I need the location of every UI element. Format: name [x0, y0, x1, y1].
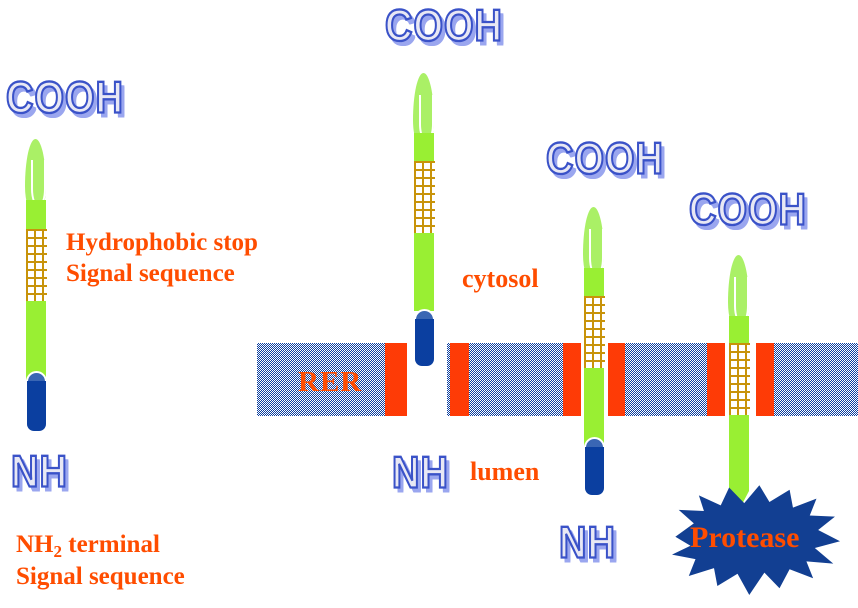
membrane-edge-bar	[450, 343, 469, 416]
nh-label-2: NH	[392, 451, 449, 496]
membrane-edge-bar	[608, 343, 625, 416]
cooh-label-4: COOH	[689, 188, 807, 233]
hydrophobic-stop-segment	[26, 229, 47, 301]
hydrophobic-stop-segment	[584, 296, 605, 368]
rer-label: RER	[298, 366, 362, 399]
protein-green-shaft	[584, 268, 604, 296]
nh2-terminal-line1: NH2 terminal	[16, 530, 185, 562]
cytosol-label: cytosol	[462, 263, 539, 295]
nh2-terminal-line2: Signal sequence	[16, 562, 185, 593]
nh-label-1: NH	[11, 450, 68, 495]
membrane-edge-bar	[707, 343, 725, 416]
cooh-label-2: COOH	[385, 4, 503, 49]
nh2-terminal-caption: NH2 terminal Signal sequence	[16, 530, 185, 593]
cooh-label-1: COOH	[6, 76, 124, 121]
protein-green-shaft	[414, 233, 434, 311]
nh2-subscript: 2	[54, 542, 63, 561]
protein-green-shaft	[26, 200, 46, 229]
signal-sequence-tail	[415, 319, 434, 366]
hydrophobic-stop-line1: Hydrophobic stop	[66, 228, 258, 259]
lumen-label: lumen	[470, 456, 539, 488]
protein-green-shaft	[414, 133, 434, 161]
hydrophobic-stop-segment	[414, 161, 435, 233]
diagram-canvas: RER COOH NH Hydrophobic stop Signal sequ…	[0, 0, 858, 608]
protein-green-shaft	[584, 368, 604, 446]
protease-label: Protease	[690, 521, 799, 555]
nh2-terminal-suffix: terminal	[62, 531, 160, 558]
nh2-terminal-text: NH	[16, 531, 54, 558]
membrane-edge-bar	[756, 343, 774, 416]
hydrophobic-stop-line2: Signal sequence	[66, 259, 258, 290]
protein-green-shaft	[26, 301, 46, 380]
nh-label-3: NH	[559, 521, 616, 566]
cooh-label-3: COOH	[546, 137, 664, 182]
membrane-edge-bar	[563, 343, 581, 416]
hydrophobic-stop-caption: Hydrophobic stop Signal sequence	[66, 228, 258, 289]
signal-sequence-tail	[585, 447, 604, 495]
hydrophobic-stop-segment	[729, 343, 750, 415]
membrane-edge-bar	[385, 343, 407, 416]
signal-sequence-tail	[27, 381, 46, 431]
protein-green-shaft	[729, 316, 749, 343]
